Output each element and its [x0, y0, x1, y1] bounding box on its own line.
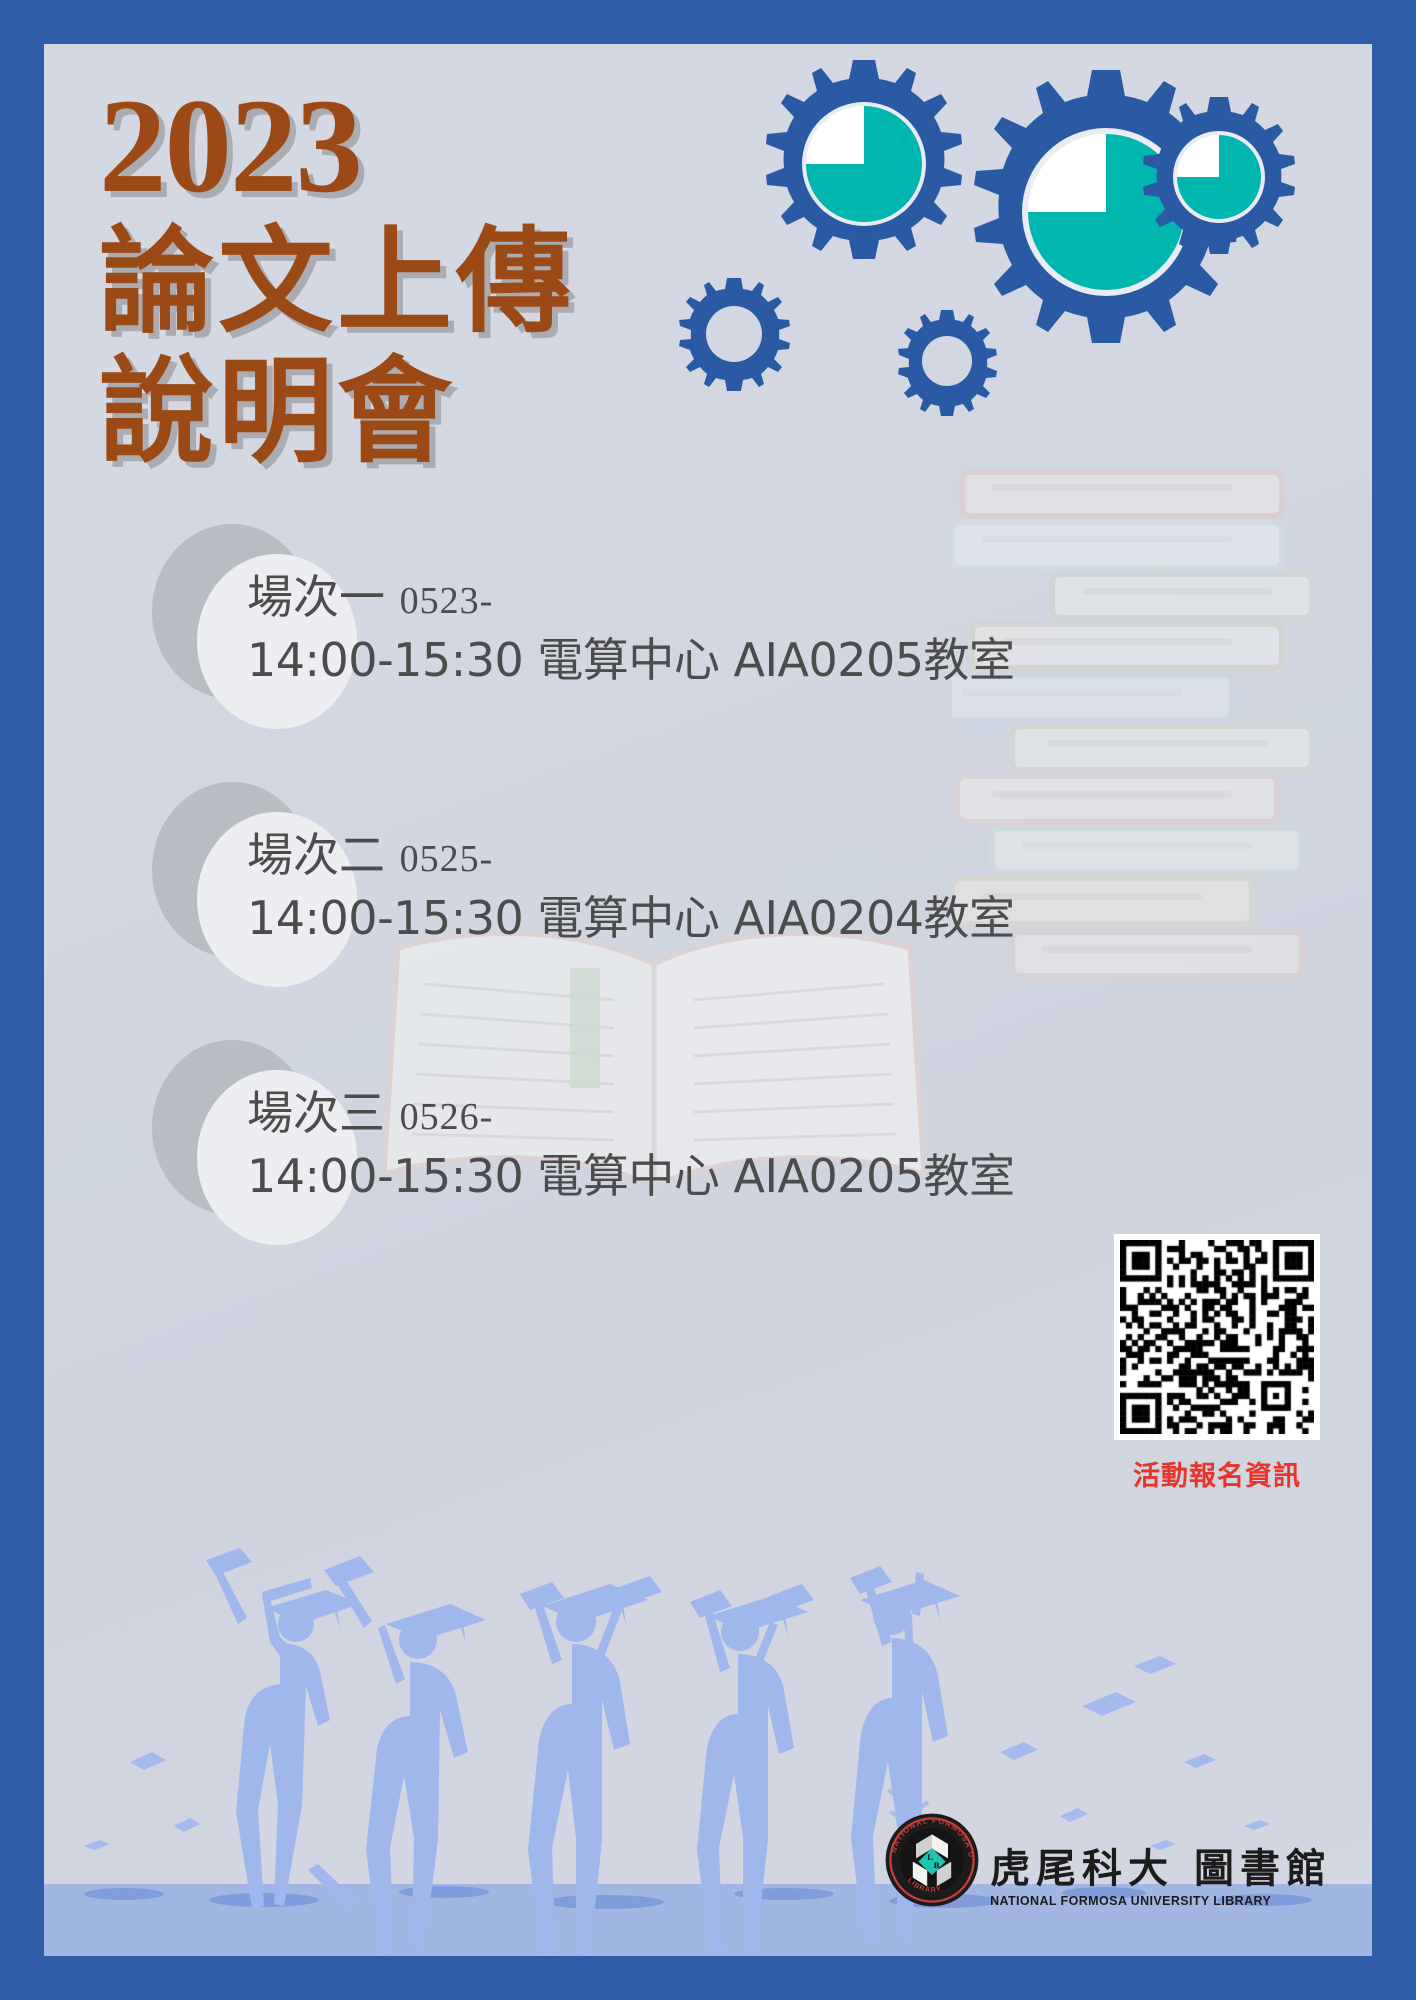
- title-year: 2023: [99, 79, 575, 214]
- gear-icon-tiny: [892, 306, 1002, 416]
- session-date: 0523-: [400, 580, 494, 622]
- gear-icon-medium: [754, 54, 974, 274]
- poster-title-block: 2023 論文上傳 說明會: [99, 79, 575, 474]
- session-text: 場次三 0526- 14:00-15:30 電算中心 AIA0205教室: [152, 1040, 1015, 1209]
- poster-root: 2023 論文上傳 說明會 場次一 0523- 14:00-15:30 電算中心…: [0, 0, 1416, 2000]
- session-heading: 場次三 0526-: [247, 1085, 1015, 1143]
- title-line-1: 論文上傳: [99, 220, 575, 344]
- session-item-1: 場次一 0523- 14:00-15:30 電算中心 AIA0205教室: [152, 524, 1015, 693]
- qr-block[interactable]: 活動報名資訊: [1114, 1234, 1320, 1493]
- qr-caption: 活動報名資訊: [1114, 1454, 1320, 1493]
- library-name-chinese: 虎尾科大 圖書館: [990, 1848, 1332, 1890]
- session-item-2: 場次二 0525- 14:00-15:30 電算中心 AIA0204教室: [152, 782, 1015, 951]
- session-item-3: 場次三 0526- 14:00-15:30 電算中心 AIA0205教室: [152, 1040, 1015, 1209]
- poster-canvas: 2023 論文上傳 說明會 場次一 0523- 14:00-15:30 電算中心…: [44, 44, 1372, 1956]
- gear-icon-small-left: [674, 274, 794, 394]
- qr-code-canvas[interactable]: [1120, 1240, 1314, 1434]
- title-line-2: 說明會: [99, 350, 575, 474]
- session-date: 0526-: [400, 1096, 494, 1138]
- session-text: 場次二 0525- 14:00-15:30 電算中心 AIA0204教室: [152, 782, 1015, 951]
- session-text: 場次一 0523- 14:00-15:30 電算中心 AIA0205教室: [152, 524, 1015, 693]
- session-heading: 場次二 0525-: [247, 827, 1015, 885]
- gear-icon-small-right: [1134, 92, 1304, 262]
- svg-text:B: B: [934, 1860, 940, 1870]
- session-label: 場次一: [247, 570, 385, 624]
- svg-text:L: L: [927, 1852, 933, 1862]
- session-detail: 14:00-15:30 電算中心 AIA0204教室: [247, 885, 1015, 952]
- session-label: 場次三: [247, 1086, 385, 1140]
- session-date: 0525-: [400, 838, 494, 880]
- qr-code-icon[interactable]: [1114, 1234, 1320, 1440]
- session-label: 場次二: [247, 828, 385, 882]
- library-seal-icon: L B NATIONAL FORMOSA UNIVERSITY LIBRARY: [884, 1812, 980, 1908]
- library-logo-lockup: L B NATIONAL FORMOSA UNIVERSITY LIBRARY …: [884, 1812, 1332, 1908]
- session-detail: 14:00-15:30 電算中心 AIA0205教室: [247, 1143, 1015, 1210]
- library-logo-text: 虎尾科大 圖書館 NATIONAL FORMOSA UNIVERSITY LIB…: [990, 1848, 1332, 1908]
- session-detail: 14:00-15:30 電算中心 AIA0205教室: [247, 627, 1015, 694]
- library-name-english: NATIONAL FORMOSA UNIVERSITY LIBRARY: [990, 1894, 1271, 1908]
- session-heading: 場次一 0523-: [247, 569, 1015, 627]
